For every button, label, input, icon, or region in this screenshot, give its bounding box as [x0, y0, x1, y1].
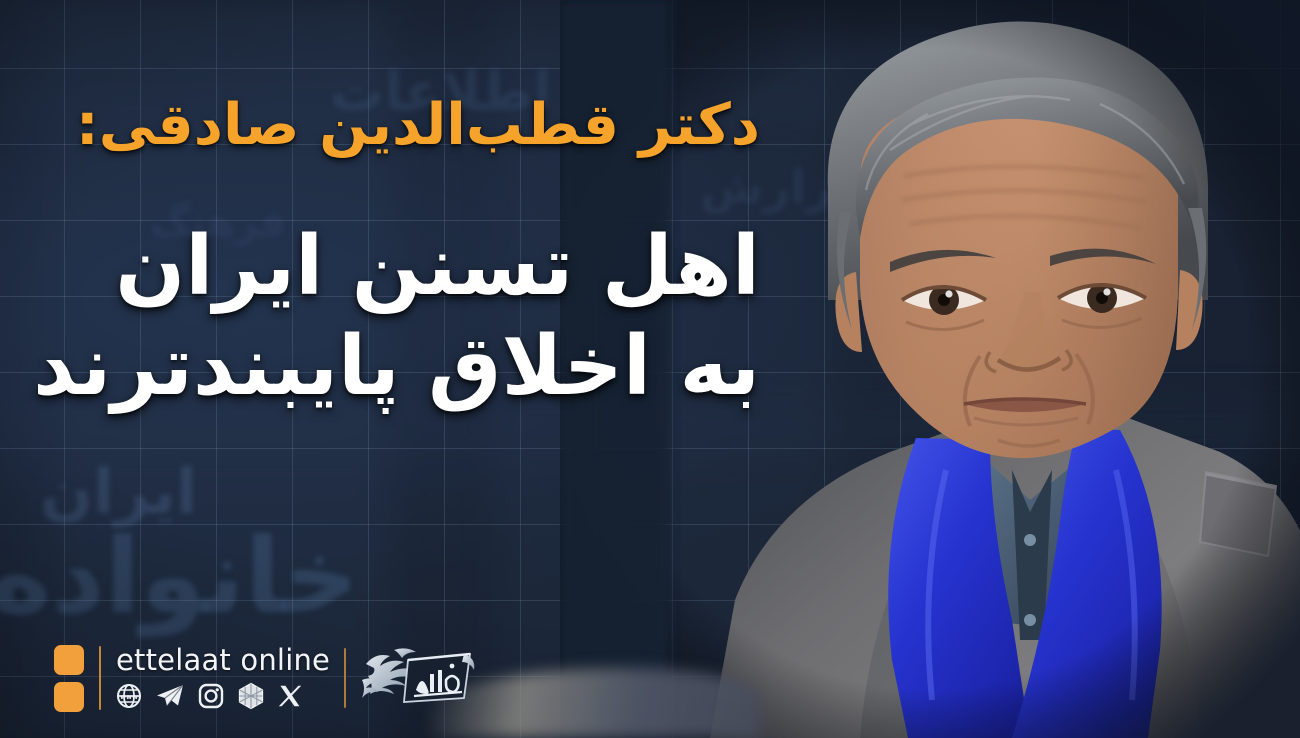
headline-line-1: اهل تسنن ایران — [40, 214, 760, 321]
brand-name: ettelaat online — [116, 646, 330, 675]
telegram-icon[interactable] — [155, 683, 185, 709]
rubika-icon[interactable] — [237, 682, 265, 710]
headline-block: دکتر قطب‌الدین صادقی: اهل تسنن ایران به … — [40, 96, 760, 421]
x-icon[interactable] — [278, 684, 302, 708]
logo-divider-2 — [344, 648, 346, 708]
ettelaat-masthead-emblem — [360, 640, 480, 716]
website-icon[interactable]: www — [116, 683, 142, 709]
video-thumbnail-card: ایران خانواده اطلاعات گزارش روزنامه فرهن… — [0, 0, 1300, 738]
brand-mark-squares — [54, 645, 84, 712]
brand-column: ettelaat online www — [116, 646, 330, 710]
logo-divider-1 — [99, 646, 101, 710]
brand-square-bottom — [54, 682, 84, 712]
instagram-icon[interactable] — [198, 683, 224, 709]
svg-text:www: www — [120, 693, 138, 701]
headline-line-2: به اخلاق پایبندترند — [40, 314, 760, 421]
footer-logo-bar: ettelaat online www — [54, 640, 480, 716]
brand-square-top — [54, 645, 84, 675]
headline-kicker: دکتر قطب‌الدین صادقی: — [40, 96, 760, 156]
social-icon-row: www — [116, 682, 302, 710]
